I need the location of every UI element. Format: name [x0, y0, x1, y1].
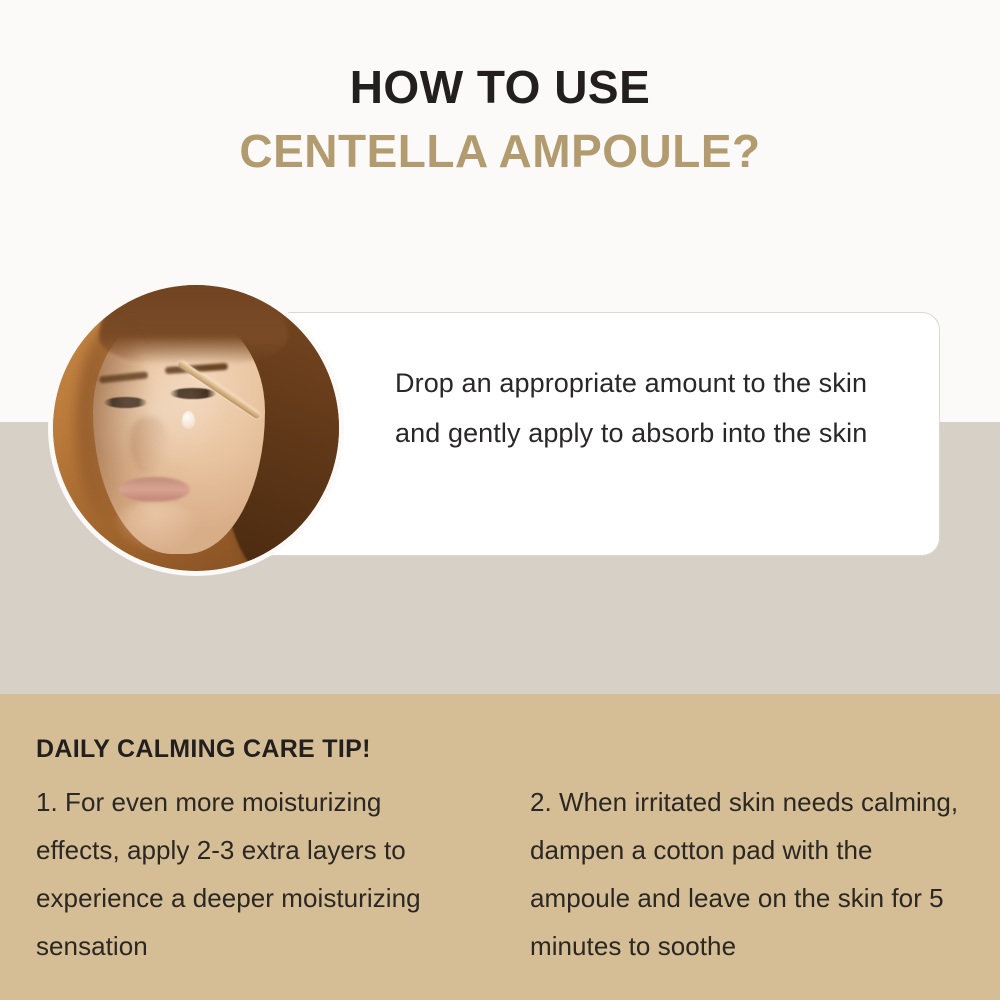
instruction-text: Drop an appropriate amount to the skin a… [395, 358, 895, 458]
photo-clip [53, 285, 339, 571]
how-to-use-infographic: HOW TO USE CENTELLA AMPOULE? Drop an app… [0, 0, 1000, 1000]
tip-item-1: 1. For even more moisturizing effects, a… [36, 778, 472, 970]
tips-columns: 1. For even more moisturizing effects, a… [36, 778, 966, 970]
page-title: HOW TO USE CENTELLA AMPOULE? [0, 62, 1000, 177]
tip-item-2: 2. When irritated skin needs calming, da… [530, 778, 966, 970]
product-usage-photo [53, 285, 339, 571]
title-line-primary: HOW TO USE [0, 62, 1000, 114]
tips-section-heading: DAILY CALMING CARE TIP! [36, 735, 371, 764]
photo-highlight-sheen [53, 285, 339, 571]
title-line-secondary: CENTELLA AMPOULE? [0, 126, 1000, 178]
